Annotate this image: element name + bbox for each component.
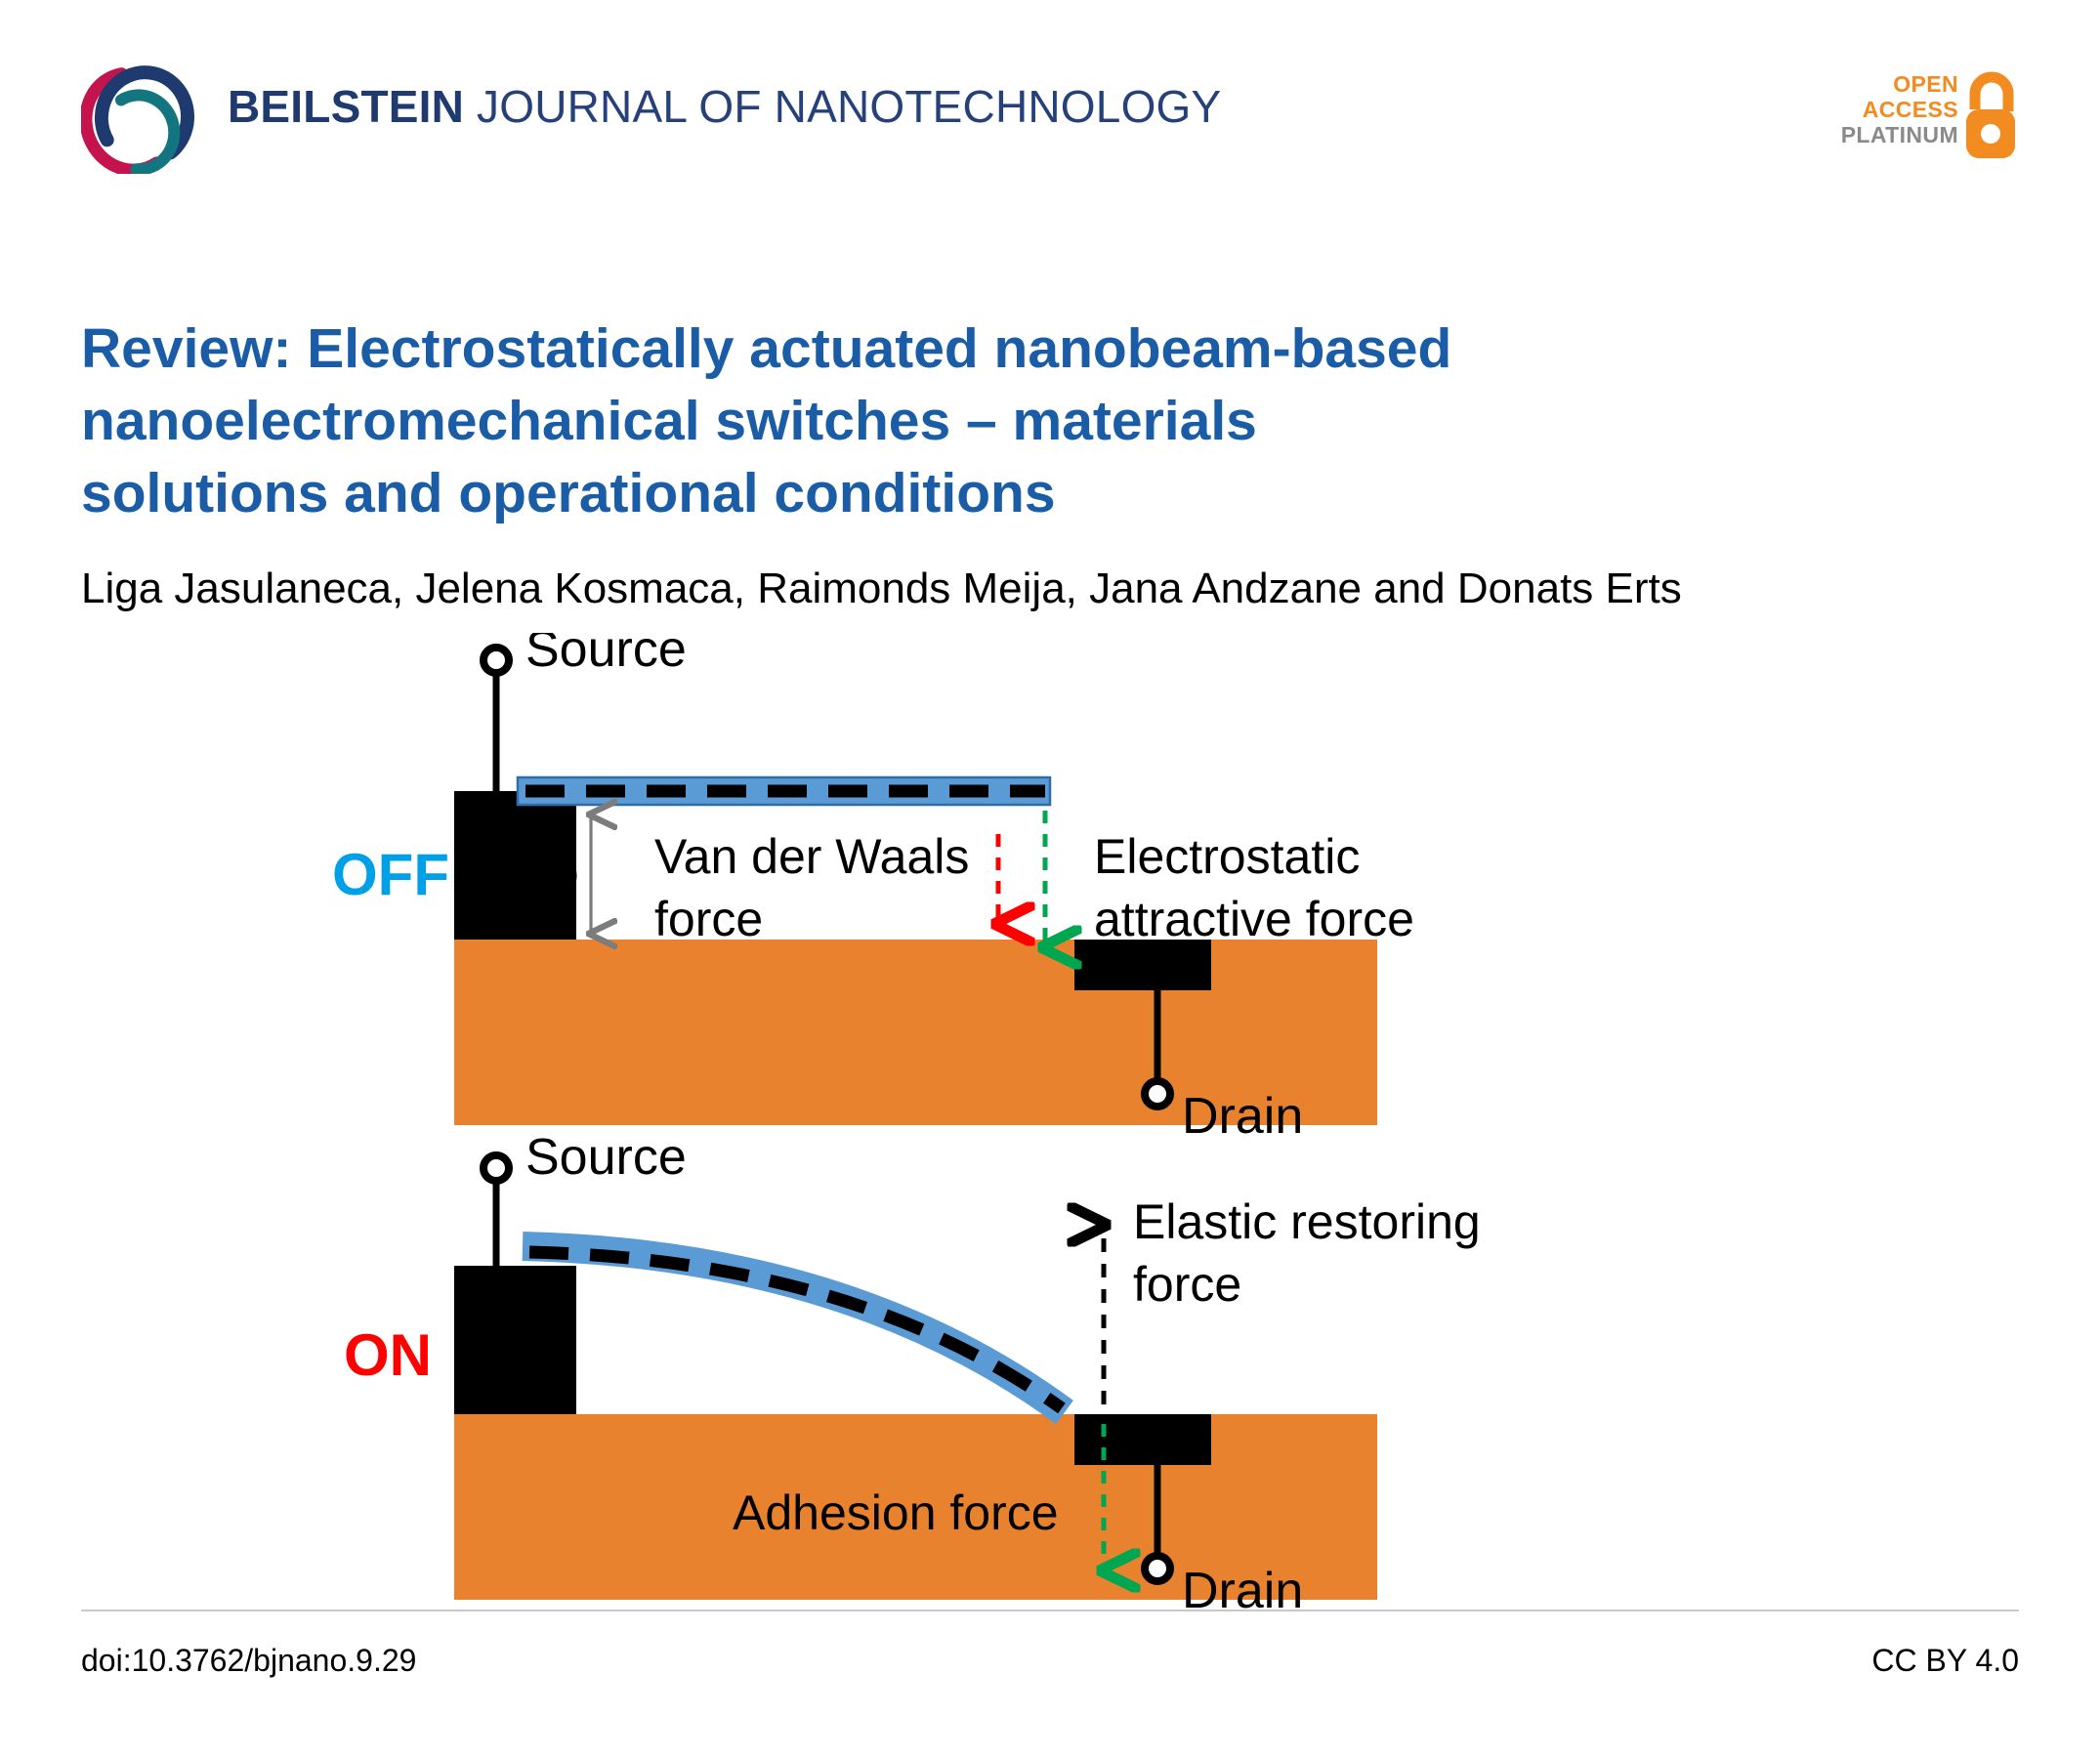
oa-line-platinum: PLATINUM [1841, 123, 1958, 148]
off-vdw-label-line1: Van der Waals [654, 829, 969, 884]
doi-text[interactable]: doi:10.3762/bjnano.9.29 [81, 1643, 416, 1679]
page-title: Review: Electrostatically actuated nanob… [81, 313, 1790, 529]
on-source-electrode [454, 1266, 576, 1414]
off-source-label: Source [525, 633, 687, 678]
off-drain-terminal [1145, 1081, 1170, 1107]
off-drain-label: Drain [1182, 1088, 1303, 1145]
wordmark-bold: BEILSTEIN [228, 81, 464, 132]
on-nanobeam [523, 1246, 1065, 1412]
journal-masthead: BEILSTEIN JOURNAL OF NANOTECHNOLOGY OPEN… [81, 59, 2019, 176]
on-state-label: ON [344, 1322, 432, 1388]
off-source-terminal [483, 648, 509, 673]
open-lock-icon [1962, 68, 2019, 162]
journal-wordmark: BEILSTEIN JOURNAL OF NANOTECHNOLOGY [228, 84, 1221, 129]
open-access-text: OPEN ACCESS PLATINUM [1841, 72, 1958, 147]
title-line-1: Review: Electrostatically actuated nanob… [81, 313, 1790, 385]
oa-line-access: ACCESS [1841, 98, 1958, 123]
footer-divider [81, 1610, 2019, 1611]
on-elastic-label-line2: force [1133, 1257, 1241, 1312]
on-adhesion-label: Adhesion force [733, 1485, 1059, 1540]
off-gap-label: Gap [486, 845, 579, 899]
off-panel: Source Drain OFF Gap Van der Waals force… [332, 633, 1414, 1145]
on-source-terminal [483, 1155, 509, 1181]
on-drain-electrode [1074, 1414, 1211, 1465]
beilstein-swirl-logo-icon [81, 59, 206, 174]
off-drain-electrode [1074, 940, 1211, 990]
off-state-label: OFF [332, 842, 449, 907]
author-list: Liga Jasulaneca, Jelena Kosmaca, Raimond… [81, 565, 1682, 613]
oa-line-open: OPEN [1841, 72, 1958, 98]
open-access-badge: OPEN ACCESS PLATINUM [1824, 64, 2019, 166]
license-text: CC BY 4.0 [1871, 1643, 2019, 1679]
title-line-3: solutions and operational conditions [81, 457, 1790, 529]
on-drain-terminal [1145, 1556, 1170, 1581]
wordmark-light: JOURNAL OF NANOTECHNOLOGY [464, 81, 1221, 132]
title-line-2: nanoelectromechanical switches – materia… [81, 385, 1790, 457]
off-electrostatic-label-line1: Electrostatic [1094, 829, 1360, 884]
on-drain-label: Drain [1182, 1563, 1303, 1610]
on-source-label: Source [525, 1129, 687, 1186]
on-elastic-label-line1: Elastic restoring [1133, 1194, 1481, 1249]
on-panel: Source Drain ON Elastic restoring force … [344, 1129, 1481, 1610]
off-vdw-label-line2: force [654, 892, 763, 946]
graphical-abstract-figure: Source Drain OFF Gap Van der Waals force… [322, 633, 1817, 1610]
off-electrostatic-label-line2: attractive force [1094, 892, 1414, 946]
